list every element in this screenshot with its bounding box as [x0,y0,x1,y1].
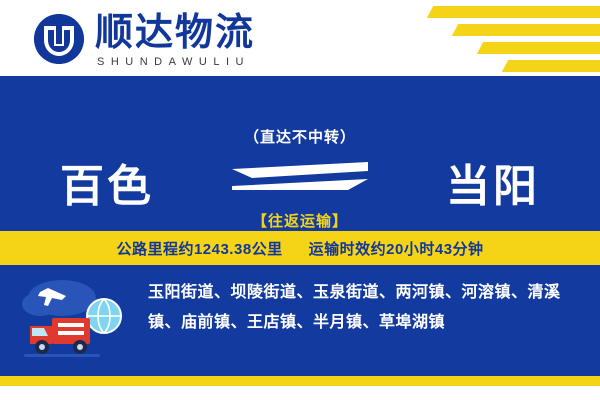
stripe-1 [427,6,600,18]
header-stripes-decoration [410,0,600,76]
distance-label: 公路里程约1243.38公里 [116,238,282,259]
brand-name-cn: 顺达物流 [95,13,255,53]
logistics-poster: 顺达物流 SHUNDAWULIU （直达不中转） 百色 当阳 【往返运输】 公路… [0,0,600,400]
poster-body: （直达不中转） 百色 当阳 【往返运输】 公路里程约1243.38公里 运输时效… [0,76,600,376]
stripe-4 [502,60,600,72]
distance-duration-bar: 公路里程约1243.38公里 运输时效约20小时43分钟 [0,231,600,265]
poster-header: 顺达物流 SHUNDAWULIU [0,0,600,76]
service-areas-list: 玉阳街道、坝陵街道、玉泉街道、两河镇、河溶镇、清溪镇、庙前镇、王店镇、半月镇、草… [148,278,578,338]
bottom-yellow-strip [0,376,600,386]
double-arrow-shape [218,156,382,198]
service-areas-block: 玉阳街道、坝陵街道、玉泉街道、两河镇、河溶镇、清溪镇、庙前镇、王店镇、半月镇、草… [0,272,600,368]
stripe-3 [477,42,600,54]
double-arrow-icon [218,156,382,198]
logistics-illustration-shape [18,276,138,364]
logo-swoosh-shape [34,14,84,64]
bottom-white-strip [0,386,600,400]
brand-name-en: SHUNDAWULIU [97,56,250,68]
origin-city: 百色 [60,150,154,214]
route-block: （直达不中转） 百色 当阳 【往返运输】 [0,100,600,245]
duration-label: 运输时效约20小时43分钟 [309,238,484,259]
route-direct-note: （直达不中转） [0,126,600,147]
circle-swoosh-logo-icon [34,14,84,64]
stripe-2 [452,24,600,36]
destination-city: 当阳 [446,150,540,214]
route-roundtrip-note: 【往返运输】 [0,210,600,231]
truck-globe-plane-icon [18,276,138,364]
